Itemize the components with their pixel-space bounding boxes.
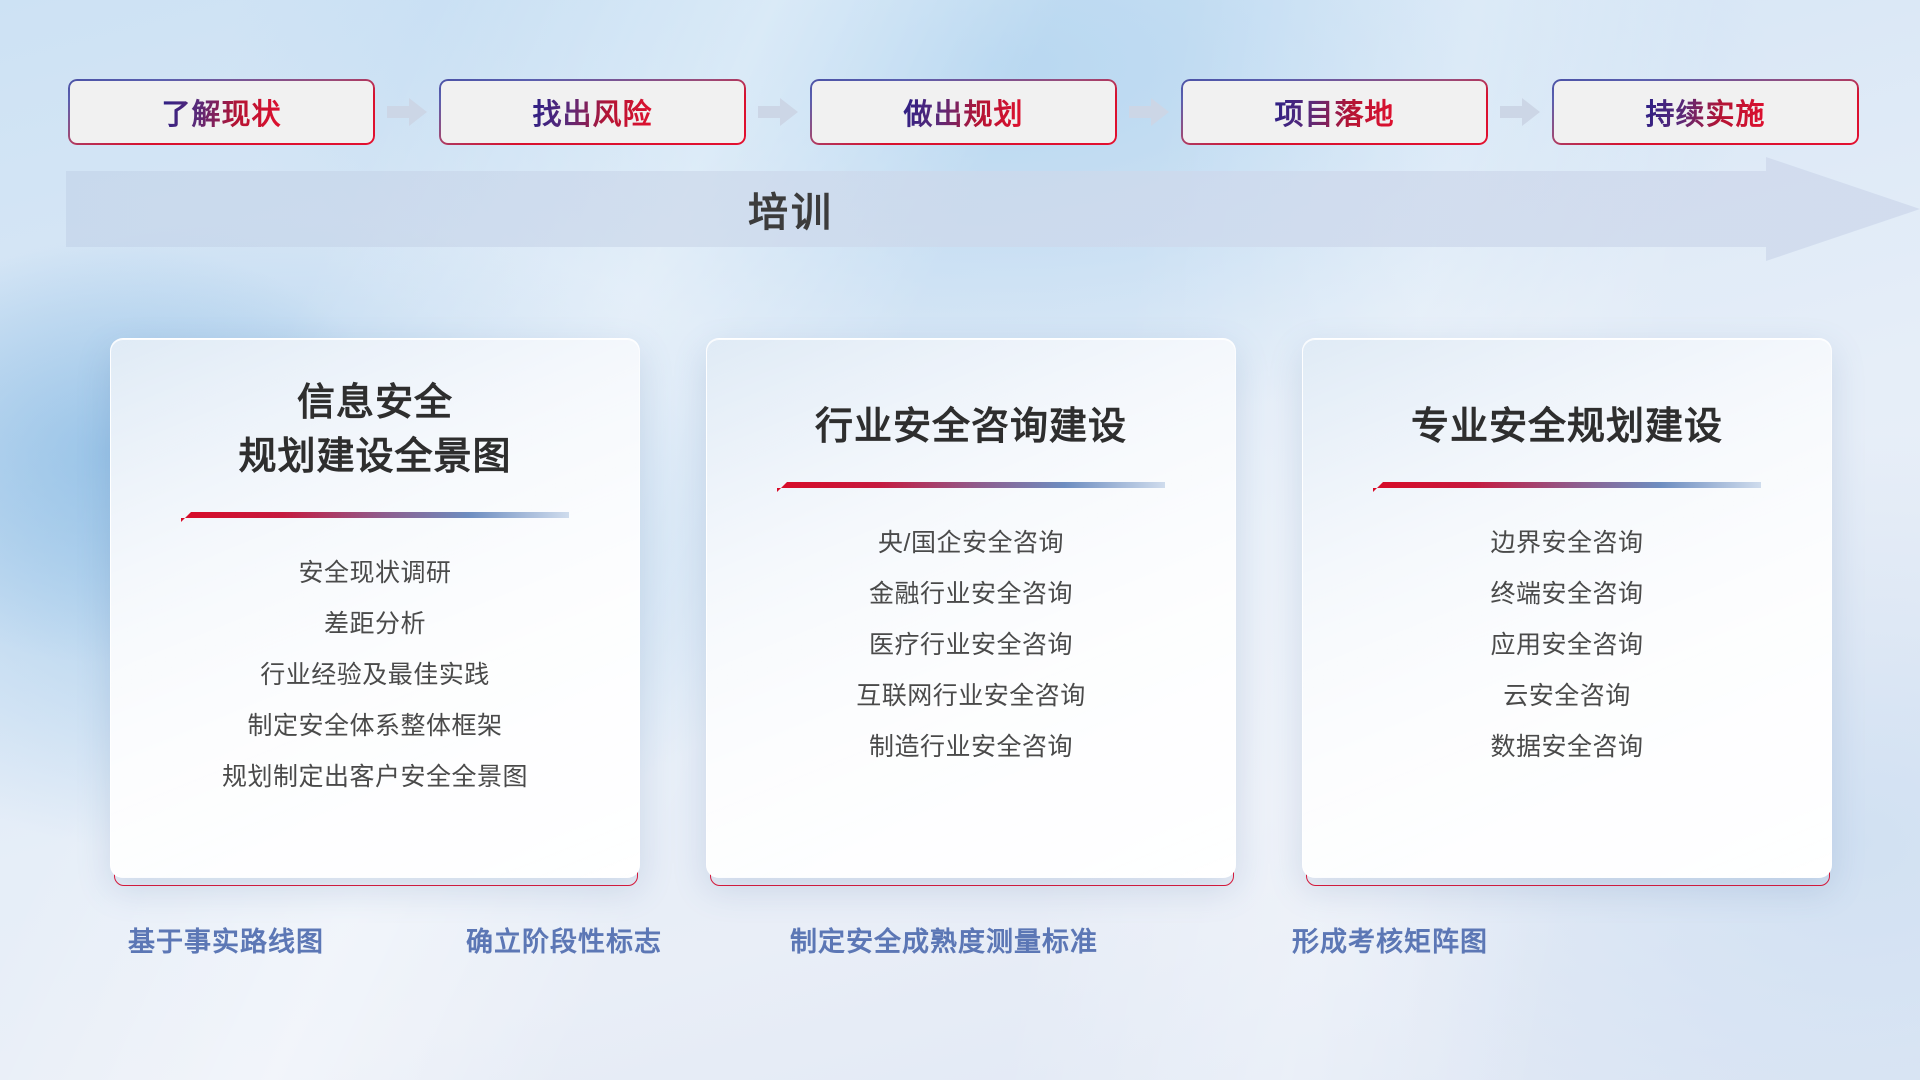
list-item: 安全现状调研 bbox=[111, 548, 639, 599]
list-item: 边界安全咨询 bbox=[1303, 518, 1831, 569]
list-item: 制定安全体系整体框架 bbox=[111, 701, 639, 752]
step-label: 找出风险 bbox=[532, 91, 652, 133]
list-item: 云安全咨询 bbox=[1303, 671, 1831, 722]
arrow-right-icon bbox=[746, 90, 810, 134]
caption-2: 确立阶段性标志 bbox=[466, 920, 662, 959]
process-step-row: 了解现状 找出风险 做出规划 项目落地 bbox=[68, 78, 1858, 146]
list-item: 终端安全咨询 bbox=[1303, 569, 1831, 620]
gradient-rule bbox=[1373, 481, 1761, 492]
step-label: 持续实施 bbox=[1645, 91, 1765, 133]
list-item: 行业经验及最佳实践 bbox=[111, 650, 639, 701]
training-banner: 培训 bbox=[66, 157, 1920, 261]
list-item: 差距分析 bbox=[111, 599, 639, 650]
step-box-5[interactable]: 持续实施 bbox=[1552, 79, 1859, 145]
card-1[interactable]: 信息安全 规划建设全景图 bbox=[110, 338, 640, 878]
step-box-4[interactable]: 项目落地 bbox=[1181, 79, 1488, 145]
card-item-list: 安全现状调研 差距分析 行业经验及最佳实践 制定安全体系整体框架 规划制定出客户… bbox=[111, 548, 639, 803]
arrow-right-icon bbox=[1488, 90, 1552, 134]
list-item: 医疗行业安全咨询 bbox=[707, 620, 1235, 671]
gradient-rule bbox=[181, 511, 569, 522]
list-item: 央/国企安全咨询 bbox=[707, 518, 1235, 569]
step-label: 了解现状 bbox=[161, 91, 281, 133]
banner-label: 培训 bbox=[66, 157, 1516, 261]
caption-row: 基于事实路线图 确立阶段性标志 制定安全成熟度测量标准 形成考核矩阵图 bbox=[0, 920, 1920, 968]
list-item: 互联网行业安全咨询 bbox=[707, 671, 1235, 722]
list-item: 规划制定出客户安全全景图 bbox=[111, 752, 639, 803]
step-box-3[interactable]: 做出规划 bbox=[810, 79, 1117, 145]
step-box-2[interactable]: 找出风险 bbox=[439, 79, 746, 145]
card-3[interactable]: 专业安全规划建设 bbox=[1302, 338, 1832, 878]
caption-3: 制定安全成熟度测量标准 bbox=[790, 920, 1098, 959]
step-box-1[interactable]: 了解现状 bbox=[68, 79, 375, 145]
step-label: 做出规划 bbox=[903, 91, 1023, 133]
arrow-right-icon bbox=[1117, 90, 1181, 134]
caption-4: 形成考核矩阵图 bbox=[1292, 920, 1488, 959]
card-item-list: 央/国企安全咨询 金融行业安全咨询 医疗行业安全咨询 互联网行业安全咨询 制造行… bbox=[707, 518, 1235, 773]
list-item: 数据安全咨询 bbox=[1303, 722, 1831, 773]
card-row: 信息安全 规划建设全景图 bbox=[110, 338, 1810, 878]
card-title: 专业安全规划建设 bbox=[1303, 401, 1831, 455]
gradient-rule bbox=[777, 481, 1165, 492]
list-item: 金融行业安全咨询 bbox=[707, 569, 1235, 620]
card-title: 行业安全咨询建设 bbox=[707, 401, 1235, 455]
card-item-list: 边界安全咨询 终端安全咨询 应用安全咨询 云安全咨询 数据安全咨询 bbox=[1303, 518, 1831, 773]
caption-1: 基于事实路线图 bbox=[128, 920, 324, 959]
arrow-right-icon bbox=[375, 90, 439, 134]
list-item: 应用安全咨询 bbox=[1303, 620, 1831, 671]
card-panel: 行业安全咨询建设 bbox=[706, 338, 1236, 878]
card-title: 信息安全 规划建设全景图 bbox=[111, 377, 639, 485]
card-panel: 专业安全规划建设 bbox=[1302, 338, 1832, 878]
list-item: 制造行业安全咨询 bbox=[707, 722, 1235, 773]
card-2[interactable]: 行业安全咨询建设 bbox=[706, 338, 1236, 878]
slide-canvas: 了解现状 找出风险 做出规划 项目落地 bbox=[0, 0, 1920, 1080]
step-label: 项目落地 bbox=[1274, 91, 1394, 133]
card-panel: 信息安全 规划建设全景图 bbox=[110, 338, 640, 878]
